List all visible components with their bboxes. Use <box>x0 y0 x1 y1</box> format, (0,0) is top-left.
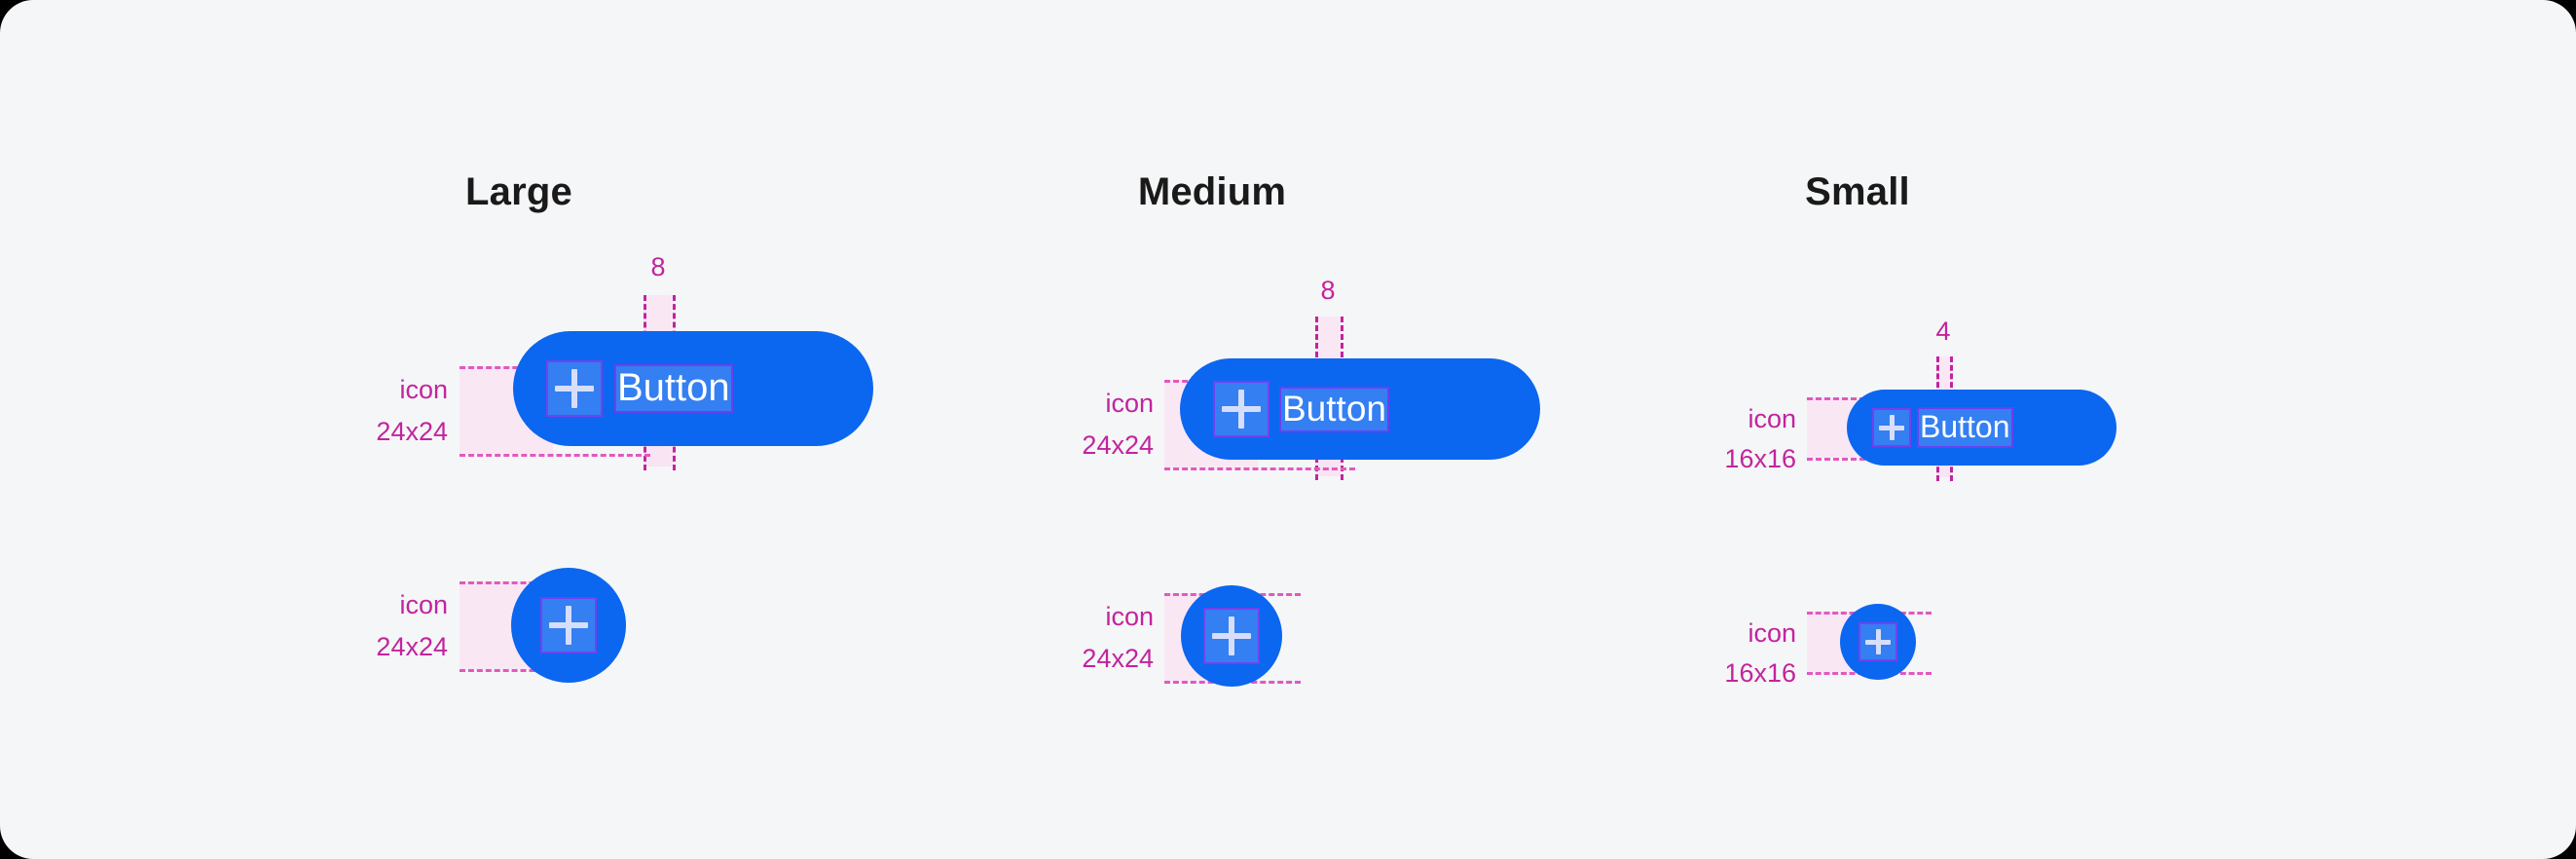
icon-annotation-medium-circle-line1: icon <box>1105 601 1154 634</box>
plus-icon <box>546 360 603 417</box>
icon-measure-guide-bottom-large <box>460 454 650 457</box>
plus-icon <box>540 597 597 654</box>
icon-button-large[interactable] <box>511 568 626 683</box>
button-small-label: Button <box>1919 409 2011 446</box>
icon-button-medium[interactable] <box>1181 585 1282 687</box>
icon-button-small[interactable] <box>1840 604 1916 680</box>
plus-icon <box>1203 608 1260 664</box>
column-heading-medium: Medium <box>1138 170 1286 214</box>
button-medium-with-label[interactable]: Button <box>1180 358 1540 460</box>
icon-annotation-medium-line2: 24x24 <box>1082 429 1154 463</box>
plus-icon <box>1213 381 1270 437</box>
icon-annotation-large-circle-line1: icon <box>399 589 448 622</box>
column-heading-large: Large <box>465 170 572 214</box>
gap-annotation-medium: 8 <box>1320 275 1335 308</box>
icon-annotation-large-circle-line2: 24x24 <box>376 631 448 664</box>
button-large-label: Button <box>616 366 731 411</box>
button-small-with-label[interactable]: Button <box>1847 390 2116 466</box>
icon-annotation-large-line2: 24x24 <box>376 416 448 449</box>
gap-annotation-small: 4 <box>1935 316 1950 349</box>
icon-annotation-small-line1: icon <box>1748 403 1796 436</box>
icon-annotation-medium-line1: icon <box>1105 388 1154 421</box>
icon-annotation-large-line1: icon <box>399 374 448 407</box>
gap-annotation-large: 8 <box>650 251 665 284</box>
column-heading-small: Small <box>1805 170 1910 214</box>
icon-annotation-medium-circle-line2: 24x24 <box>1082 643 1154 676</box>
button-medium-label: Button <box>1281 389 1387 430</box>
button-large-with-label[interactable]: Button <box>513 331 873 446</box>
icon-annotation-small-line2: 16x16 <box>1724 443 1796 476</box>
icon-annotation-small-circle-line2: 16x16 <box>1724 657 1796 691</box>
plus-icon <box>1858 622 1897 661</box>
spec-sheet-card: Large Medium Small 8 icon 24x24 Button i… <box>0 0 2576 859</box>
icon-annotation-small-circle-line1: icon <box>1748 617 1796 651</box>
plus-icon <box>1872 408 1911 447</box>
icon-measure-guide-bottom-medium <box>1164 467 1355 470</box>
